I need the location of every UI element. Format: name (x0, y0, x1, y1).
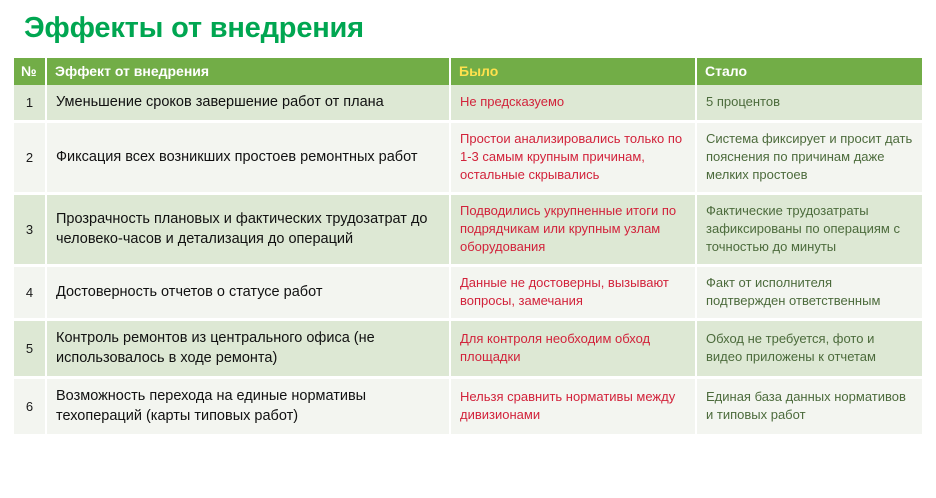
row-now: Фактические трудозатраты зафиксированы п… (696, 194, 922, 266)
row-number: 1 (14, 85, 46, 122)
row-number: 5 (14, 320, 46, 378)
row-now: Факт от исполнителя подтвержден ответств… (696, 266, 922, 320)
table-row: 4Достоверность отчетов о статусе работДа… (14, 266, 922, 320)
table-row: 6Возможность перехода на единые норматив… (14, 378, 922, 436)
table-header-row: № Эффект от внедрения Было Стало (14, 58, 922, 85)
table-row: 1Уменьшение сроков завершение работ от п… (14, 85, 922, 122)
table-header: № Эффект от внедрения Было Стало (14, 58, 922, 85)
slide-root: Эффекты от внедрения № Эффект от внедрен… (0, 0, 936, 498)
column-header-effect: Эффект от внедрения (46, 58, 450, 85)
row-was: Данные не достоверны, вызывают вопросы, … (450, 266, 696, 320)
row-was: Подводились укрупненные итоги по подрядч… (450, 194, 696, 266)
row-effect: Уменьшение сроков завершение работ от пл… (46, 85, 450, 122)
row-effect: Фиксация всех возникших простоев ремонтн… (46, 122, 450, 194)
row-was: Не предсказуемо (450, 85, 696, 122)
row-was: Для контроля необходим обход площадки (450, 320, 696, 378)
row-number: 4 (14, 266, 46, 320)
row-number: 3 (14, 194, 46, 266)
row-now: Единая база данных нормативов и типовых … (696, 378, 922, 436)
row-now: Система фиксирует и просит дать пояснени… (696, 122, 922, 194)
column-header-was: Было (450, 58, 696, 85)
table-row: 5Контроль ремонтов из центрального офиса… (14, 320, 922, 378)
row-effect: Контроль ремонтов из центрального офиса … (46, 320, 450, 378)
row-number: 2 (14, 122, 46, 194)
row-number: 6 (14, 378, 46, 436)
page-title: Эффекты от внедрения (24, 9, 364, 47)
row-now: Обход не требуется, фото и видео приложе… (696, 320, 922, 378)
row-was: Нельзя сравнить нормативы между дивизион… (450, 378, 696, 436)
row-was: Простои анализировались только по 1-3 са… (450, 122, 696, 194)
row-effect: Достоверность отчетов о статусе работ (46, 266, 450, 320)
table-body: 1Уменьшение сроков завершение работ от п… (14, 85, 922, 436)
table-row: 2Фиксация всех возникших простоев ремонт… (14, 122, 922, 194)
row-effect: Возможность перехода на единые нормативы… (46, 378, 450, 436)
effects-table: № Эффект от внедрения Было Стало 1Уменьш… (14, 58, 922, 437)
column-header-number: № (14, 58, 46, 85)
column-header-now: Стало (696, 58, 922, 85)
row-now: 5 процентов (696, 85, 922, 122)
effects-table-container: № Эффект от внедрения Было Стало 1Уменьш… (14, 58, 922, 437)
table-row: 3Прозрачность плановых и фактических тру… (14, 194, 922, 266)
row-effect: Прозрачность плановых и фактических труд… (46, 194, 450, 266)
